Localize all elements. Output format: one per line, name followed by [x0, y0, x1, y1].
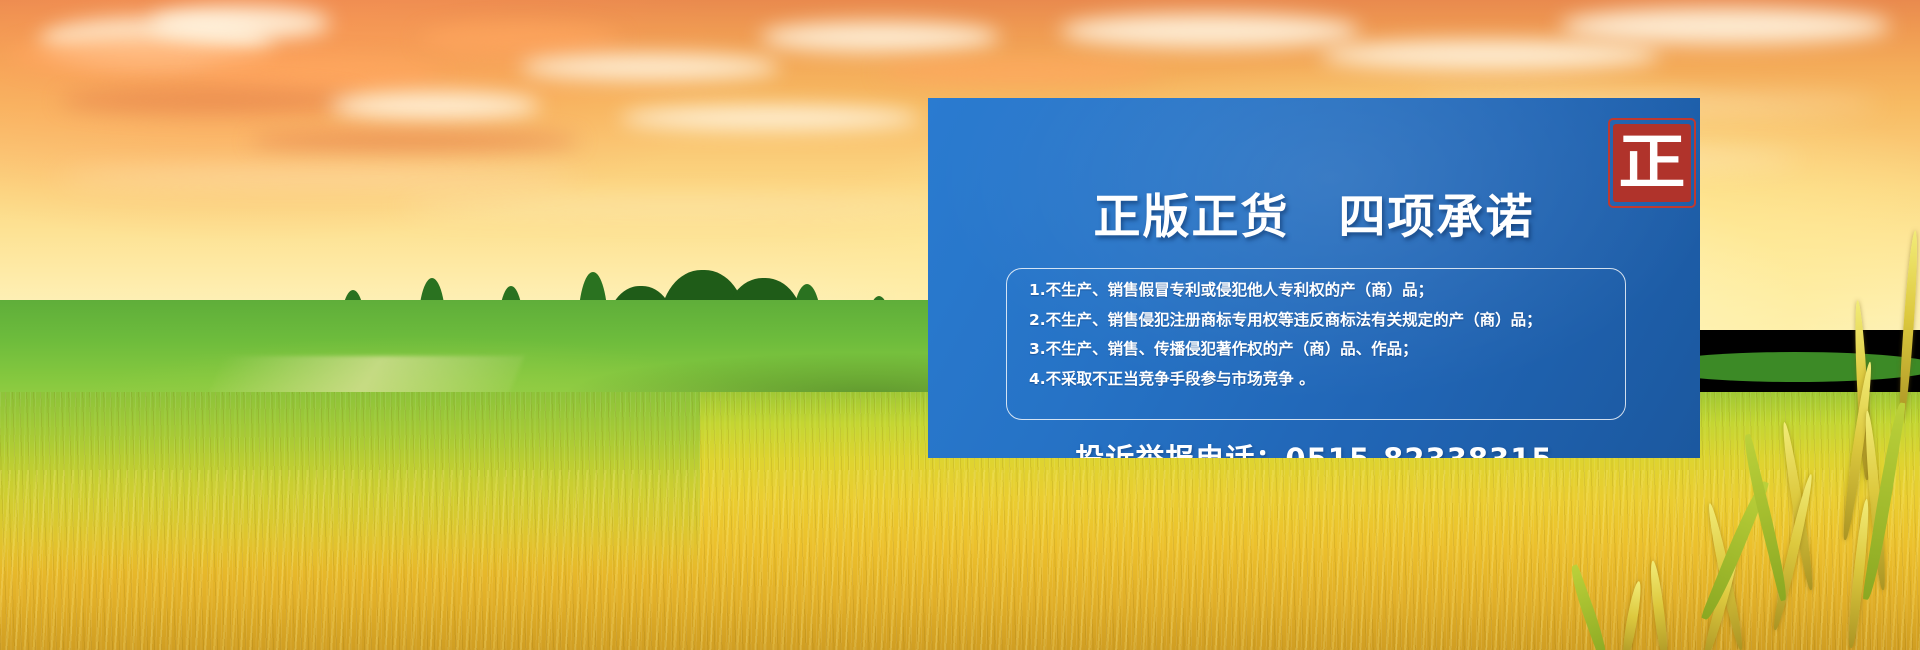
- commitments-box: 1.不生产、销售假冒专利或侵犯他人专利权的产（商）品； 2.不生产、销售侵犯注册…: [1006, 268, 1626, 420]
- cloud-shape: [1320, 40, 1660, 70]
- cloud-shape: [250, 130, 580, 152]
- commitment-item: 2.不生产、销售侵犯注册商标专用权等违反商标法有关规定的产（商）品；: [1029, 313, 1609, 329]
- cloud-shape: [60, 88, 360, 114]
- complaint-hotline: 投诉举报电话：0515-82338315: [928, 436, 1700, 458]
- cloud-shape: [880, 60, 1160, 84]
- commitment-item: 1.不生产、销售假冒专利或侵犯他人专利权的产（商）品；: [1029, 283, 1609, 299]
- cloud-streak: [400, 200, 960, 212]
- promo-banner: 正 正版正货 四项承诺 1.不生产、销售假冒专利或侵犯他人专利权的产（商）品； …: [0, 0, 1920, 650]
- cloud-shape: [1060, 14, 1360, 48]
- cloud-shape: [150, 6, 330, 40]
- panel-title: 正版正货 四项承诺: [928, 178, 1700, 247]
- commitment-panel: 正 正版正货 四项承诺 1.不生产、销售假冒专利或侵犯他人专利权的产（商）品； …: [928, 98, 1700, 458]
- cloud-shape: [1560, 8, 1890, 44]
- cloud-shape: [520, 54, 780, 80]
- cloud-shape: [420, 24, 620, 54]
- cloud-streak: [60, 170, 580, 184]
- cloud-shape: [620, 106, 920, 130]
- commitment-item: 3.不生产、销售、传播侵犯著作权的产（商）品、作品；: [1029, 342, 1609, 358]
- cloud-shape: [200, 58, 440, 92]
- cloud-shape: [330, 92, 540, 120]
- cloud-shape: [760, 22, 1000, 52]
- commitment-item: 4.不采取不正当竞争手段参与市场竞争 。: [1029, 372, 1609, 388]
